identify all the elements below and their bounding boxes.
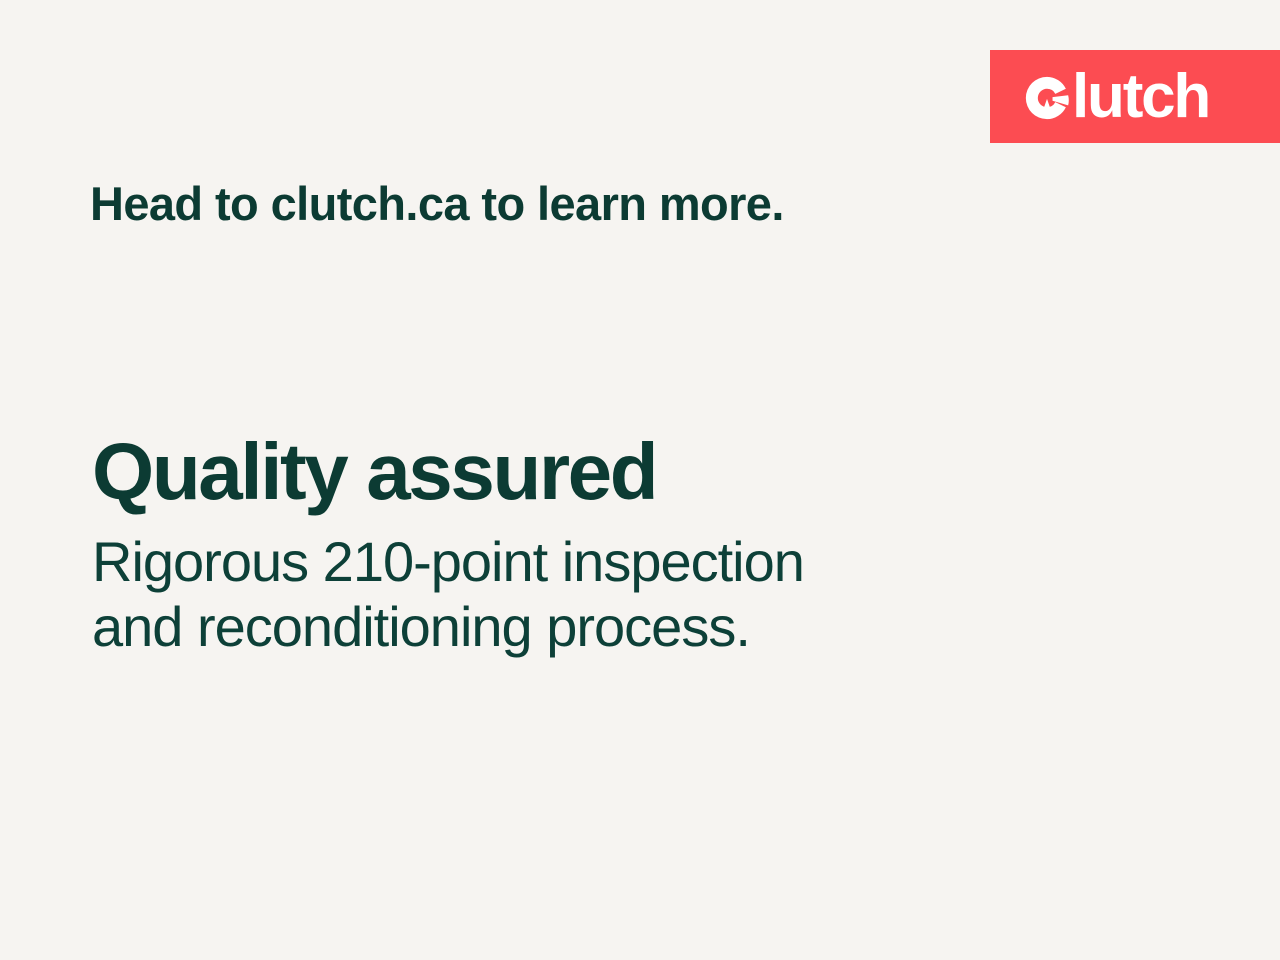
clutch-c-mark-icon xyxy=(1024,75,1070,121)
brand-banner: lutch xyxy=(990,50,1280,143)
subcopy: Rigorous 210-point inspection and recond… xyxy=(92,530,952,660)
message-block: Quality assured Rigorous 210-point inspe… xyxy=(92,432,992,660)
page-title: Quality assured xyxy=(92,432,992,512)
marketing-slide: lutch Head to clutch.ca to learn more. Q… xyxy=(0,0,1280,960)
brand-wordmark: lutch xyxy=(1072,66,1209,128)
clutch-logo: lutch xyxy=(1024,66,1209,128)
eyebrow-text: Head to clutch.ca to learn more. xyxy=(90,178,784,231)
subcopy-line-2: and reconditioning process. xyxy=(92,595,952,660)
subcopy-line-1: Rigorous 210-point inspection xyxy=(92,530,952,595)
